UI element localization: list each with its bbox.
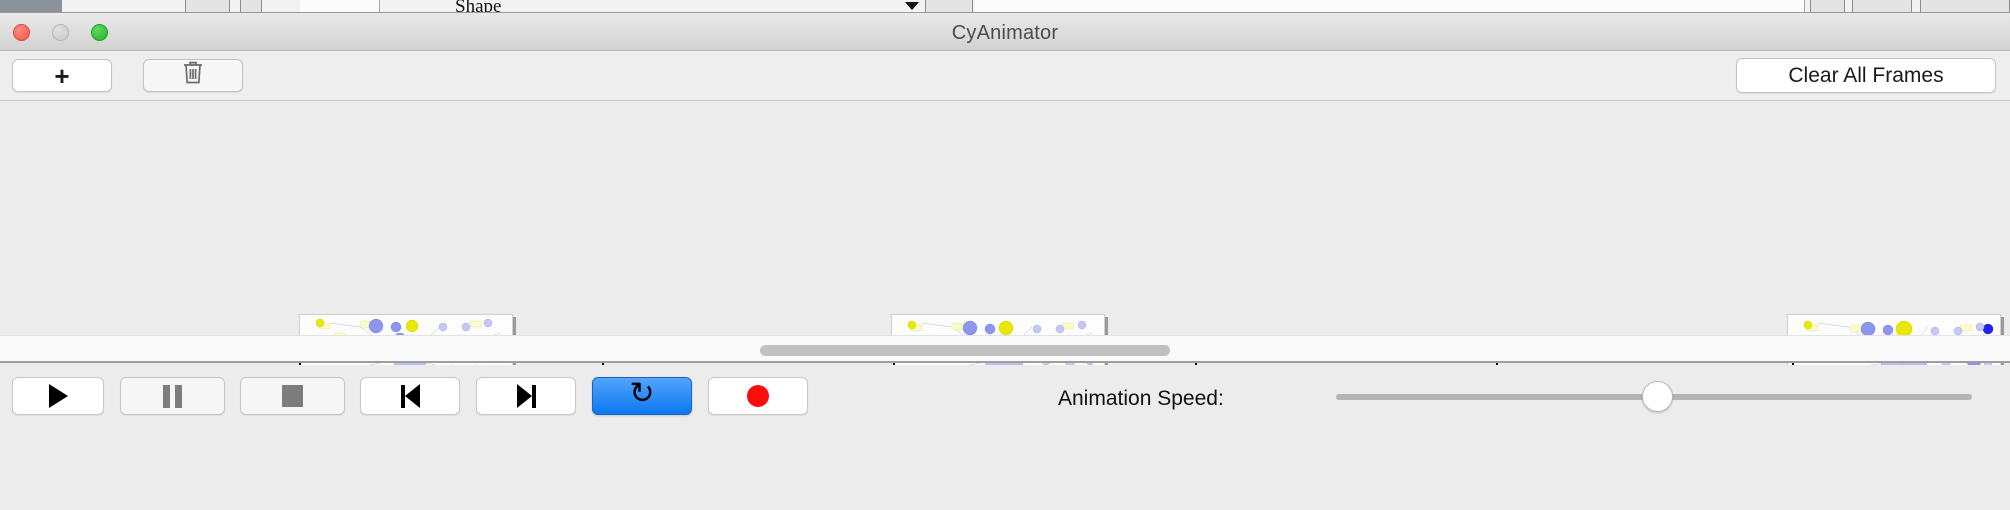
pause-icon [163, 385, 182, 408]
plus-icon: + [54, 63, 69, 89]
clear-all-frames-label: Clear All Frames [1788, 64, 1943, 88]
pause-button[interactable] [120, 377, 225, 415]
background-window-label: Shape [455, 0, 501, 13]
trash-icon [182, 60, 204, 91]
horizontal-scrollbar[interactable] [0, 335, 2010, 363]
record-button[interactable] [708, 377, 808, 415]
background-window-tab [185, 0, 230, 13]
background-window-caret-icon [905, 2, 919, 10]
animation-speed-slider[interactable] [1336, 394, 1972, 400]
toolbar: + Clear All Frames [0, 51, 2010, 101]
background-window-tab [240, 0, 262, 13]
play-button[interactable] [12, 377, 104, 415]
slider-thumb[interactable] [1642, 381, 1673, 412]
background-window-tab [1852, 0, 1912, 13]
skip-to-end-icon [517, 384, 536, 408]
stop-icon [282, 385, 303, 407]
playback-toolbar: ↻ Animation Speed: [0, 365, 2010, 430]
background-window-tab [1920, 0, 2010, 13]
background-window-field [975, 0, 1805, 13]
add-frame-button[interactable]: + [12, 59, 112, 92]
background-window-sidebar [0, 0, 62, 13]
cyanimator-window: CyAnimator + Clear All Frames [0, 13, 2010, 510]
background-window-field [300, 0, 380, 13]
scrollbar-thumb[interactable] [760, 345, 1170, 356]
background-window-strip: Shape [0, 0, 2010, 13]
skip-to-start-icon [401, 384, 420, 408]
loop-button[interactable]: ↻ [592, 377, 692, 415]
record-icon [747, 385, 769, 407]
background-window-tab [1810, 0, 1845, 13]
stop-button[interactable] [240, 377, 345, 415]
title-bar[interactable]: CyAnimator [0, 13, 2010, 51]
loop-icon: ↻ [629, 379, 654, 409]
skip-to-start-button[interactable] [360, 377, 460, 415]
background-window-tab [925, 0, 973, 13]
skip-to-end-button[interactable] [476, 377, 576, 415]
window-title: CyAnimator [0, 22, 2010, 45]
clear-all-frames-button[interactable]: Clear All Frames [1736, 58, 1996, 93]
delete-frame-button[interactable] [143, 59, 243, 92]
play-icon [49, 384, 68, 408]
animation-speed-label: Animation Speed: [1058, 387, 1224, 411]
